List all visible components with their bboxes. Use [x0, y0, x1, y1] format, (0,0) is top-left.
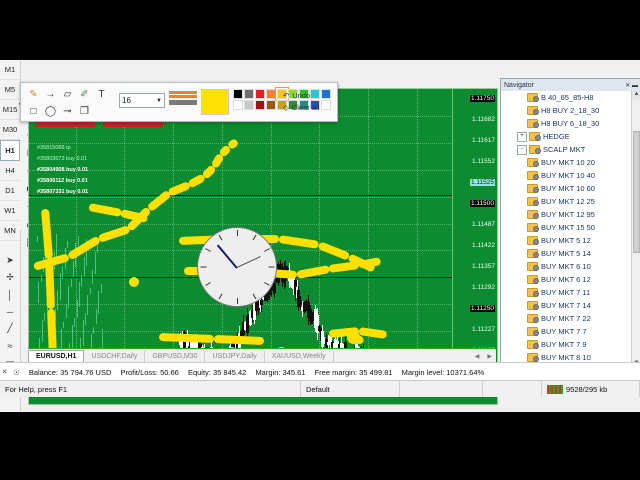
price-tick-label: 1.11750 — [470, 95, 495, 102]
horizontal-line-icon[interactable]: ─ — [0, 303, 20, 320]
navigator-item-label: BUY MKT 10 20 — [541, 158, 595, 167]
navigator-item[interactable]: B 40_65_85-H8 — [501, 91, 632, 104]
history-candle — [90, 288, 91, 294]
timeframe-button-m1[interactable]: M1 — [0, 60, 20, 80]
vertical-line-icon[interactable]: │ — [0, 286, 20, 303]
arrow-icon[interactable]: → — [42, 86, 59, 102]
expert-advisor-icon — [527, 327, 538, 336]
account-icon: ☉ — [13, 368, 20, 377]
grid-line-vertical — [124, 89, 125, 388]
expert-advisor-icon — [527, 249, 538, 258]
clock-tick — [205, 282, 211, 286]
line-width-swatches[interactable] — [169, 89, 197, 106]
navigator-close-icon[interactable]: ✕ ▬ — [625, 82, 638, 89]
expert-advisor-icon — [527, 93, 538, 102]
navigator-title: Navigator — [504, 82, 534, 89]
crosshair-icon[interactable]: ✢ — [0, 269, 20, 286]
grid-line-horizontal — [29, 224, 453, 225]
profit-loss-value: Profit/Loss: 50.66 — [120, 368, 178, 377]
current-color-swatch[interactable] — [201, 89, 229, 115]
navigator-item-label: BUY MKT 6 12 — [541, 275, 591, 284]
eraser-icon[interactable]: ▱ — [59, 86, 76, 102]
history-candle — [67, 241, 68, 248]
annotation-stroke — [88, 203, 121, 217]
expert-advisor-icon — [527, 119, 538, 128]
history-candle — [72, 325, 73, 348]
navigator-item[interactable]: BUY MKT 10 40 — [501, 169, 632, 182]
history-candle — [66, 304, 67, 318]
history-candle — [93, 327, 94, 334]
history-candle — [74, 318, 75, 327]
network-traffic: 9528/295 kb — [542, 381, 640, 397]
color-swatch-000000[interactable] — [233, 89, 243, 99]
history-candle — [85, 313, 86, 325]
expert-advisor-icon — [529, 145, 540, 154]
history-candle — [41, 275, 42, 282]
status-cell-b — [483, 381, 542, 397]
brush-icon[interactable]: ✐ — [76, 86, 93, 102]
text-icon[interactable]: T — [93, 86, 110, 102]
tabs-scroll-right[interactable]: ▶ — [483, 353, 496, 360]
line-width-swatch-2[interactable] — [169, 100, 197, 105]
terminal-close-icon[interactable]: ✕ — [0, 368, 9, 376]
price-tick-label: 1.11250 — [470, 305, 495, 312]
chart-plot[interactable]: 1.11 52 1.11 52 #35815088 tp#35803673 bu… — [29, 89, 453, 388]
candle-body — [260, 300, 263, 306]
price-tick-label: 1.11487 — [472, 221, 495, 228]
stamp-icon[interactable]: ❐ — [76, 103, 93, 119]
color-swatch-1f6fd8[interactable] — [321, 89, 331, 99]
balance-value: Balance: 35 794.76 USD — [29, 368, 112, 377]
history-candle — [98, 291, 99, 314]
history-candle — [37, 236, 38, 242]
trendline-icon[interactable]: ╱ — [0, 320, 20, 337]
expert-advisor-icon — [529, 132, 540, 141]
cursor-icon[interactable]: ➤ — [0, 252, 20, 269]
clock-tick — [237, 298, 238, 304]
navigator-item[interactable]: BUY MKT 7 7 — [501, 325, 632, 338]
clock-tick — [237, 230, 238, 236]
navigator-item[interactable]: BUY MKT 5 14 — [501, 247, 632, 260]
navigator-item-label: BUY MKT 7 9 — [541, 340, 587, 349]
grid-line-vertical — [173, 89, 174, 388]
expert-advisor-icon — [527, 184, 538, 193]
navigator-item-label: BUY MKT 10 40 — [541, 171, 595, 180]
expert-advisor-icon — [527, 236, 538, 245]
timeframe-button-m30[interactable]: M30 — [0, 120, 20, 140]
navigator-item[interactable]: BUY MKT 6 10 — [501, 260, 632, 273]
screenshot-stage: M1M5M15M30H1H4D1W1MN ➤✢│─╱≈▭ ▁▃▅⊕⊖⊞⇥⇤❖◴❑… — [0, 0, 640, 480]
order-label: #35815088 tp — [37, 145, 71, 151]
scrollbar-thumb[interactable] — [633, 131, 640, 253]
navigator-item-label: BUY MKT 12 25 — [541, 197, 595, 206]
clock-tick — [264, 282, 270, 286]
navigator-item[interactable]: H8 BUY 2_18_30 — [501, 104, 632, 117]
navigator-item-label: BUY MKT 15 50 — [541, 223, 595, 232]
history-candle — [101, 284, 102, 293]
expert-advisor-icon — [527, 171, 538, 180]
clock-tick — [201, 267, 207, 268]
price-tick-label: 1.11617 — [472, 137, 495, 144]
color-swatch-6e6e6e[interactable] — [244, 89, 254, 99]
price-tick-label: 1.11682 — [472, 116, 495, 123]
expert-advisor-icon — [527, 106, 538, 115]
history-candle — [61, 329, 62, 349]
history-candle — [44, 313, 45, 321]
history-candle — [79, 282, 80, 307]
color-swatch-9b1414[interactable] — [255, 100, 265, 110]
pencil-icon[interactable]: ✎ — [25, 86, 42, 102]
annotation-blob — [347, 331, 360, 344]
navigator-item-label: SCALP MKT — [543, 145, 585, 154]
history-candle — [83, 320, 84, 346]
clock-tick — [264, 248, 270, 252]
annotation-stroke — [147, 190, 172, 212]
margin-level-value: Margin level: 10371.64% — [402, 368, 485, 377]
navigator-item[interactable]: BUY MKT 12 95 — [501, 208, 632, 221]
eraser-icon: ◇ — [283, 103, 289, 112]
expert-advisor-icon — [527, 210, 538, 219]
clear-all-label: Clear all — [292, 103, 320, 112]
order-label: #35803673 buy 0.01 — [37, 156, 87, 162]
status-bar: For Help, press F1 Default 9528/295 kb — [0, 380, 640, 397]
navigator-item[interactable]: -SCALP MKT — [501, 143, 632, 156]
tree-expander-minus[interactable]: - — [517, 145, 527, 155]
history-candle — [62, 266, 63, 279]
grid-line-vertical — [417, 89, 418, 388]
history-candle — [87, 295, 88, 315]
network-bars-icon — [547, 385, 563, 394]
tabs-scroll-left[interactable]: ◀ — [471, 353, 484, 360]
history-candle — [57, 291, 58, 310]
history-candle — [38, 282, 39, 303]
price-axis[interactable]: 1.117501.116821.116171.115521.115251.115… — [452, 89, 497, 388]
line-width-swatch-1[interactable] — [169, 95, 197, 98]
expert-advisor-icon — [527, 262, 538, 271]
network-value: 9528/295 kb — [566, 385, 607, 394]
grid-line-horizontal — [29, 197, 453, 198]
color-swatch-ffffff[interactable] — [233, 100, 243, 110]
terminal-summary-bar: ✕ ☉ Balance: 35 794.76 USD Profit/Loss: … — [0, 362, 640, 381]
expert-advisor-icon — [527, 288, 538, 297]
equity-value: Equity: 35 845.42 — [188, 368, 246, 377]
chevron-down-icon[interactable]: ▼ — [156, 98, 162, 104]
chart-tab-xauusd-weekly[interactable]: XAUUSD,Weekly — [265, 351, 334, 362]
history-candle — [77, 300, 78, 317]
expert-advisor-icon — [527, 223, 538, 232]
metatrader-window: M1M5M15M30H1H4D1W1MN ➤✢│─╱≈▭ ▁▃▅⊕⊖⊞⇥⇤❖◴❑… — [0, 60, 640, 412]
history-candle — [42, 320, 43, 342]
timeframe-button-w1[interactable]: W1 — [0, 201, 20, 221]
history-candle — [60, 273, 61, 300]
clock-tick — [205, 248, 211, 252]
clock-tick — [219, 294, 223, 300]
clock-tick — [253, 294, 257, 300]
price-tick-label: 1.11552 — [472, 158, 495, 165]
navigator-item-label: B 40_65_85-H8 — [541, 93, 594, 102]
history-candle — [96, 309, 97, 324]
color-swatch-ffffff[interactable] — [321, 100, 331, 110]
expert-advisor-icon — [527, 275, 538, 284]
chart-tab-eurusd-h1[interactable]: EURUSD,H1 — [28, 350, 84, 363]
margin-value: Margin: 345.61 — [255, 368, 305, 377]
order-label: #35807331 buy 0.01 — [37, 189, 88, 195]
grid-line-vertical — [319, 89, 320, 388]
expert-advisor-icon — [527, 158, 538, 167]
history-candle — [73, 261, 74, 277]
history-candle — [97, 245, 98, 253]
grid-line-horizontal — [29, 143, 453, 144]
expert-advisor-icon — [527, 197, 538, 206]
navigator-panel: Navigator ✕ ▬ B 40_65_85-H8H8 BUY 2_18_3… — [500, 78, 640, 370]
chart-tab-gbpusd-m30[interactable]: GBPUSD,M30 — [145, 351, 205, 362]
history-candle — [71, 279, 72, 287]
free-margin-value: Free margin: 35 499.81 — [315, 368, 393, 377]
navigator-item[interactable]: BUY MKT 7 22 — [501, 312, 632, 325]
annotation-stroke — [328, 261, 359, 273]
clock-cursor-icon — [197, 227, 277, 307]
navigator-item-label: BUY MKT 12 95 — [541, 210, 595, 219]
color-swatch-e02020[interactable] — [255, 89, 265, 99]
clear-all-button[interactable]: ◇ Clear all — [283, 103, 319, 112]
navigator-item[interactable]: BUY MKT 6 12 — [501, 273, 632, 286]
history-candle — [78, 236, 79, 246]
drawbar-tools-row2: □◯⊸❐ — [25, 103, 93, 119]
clock-minute-hand — [237, 256, 261, 268]
drawbar-tools-row1: ✎→▱✐T — [25, 86, 110, 102]
navigator-item[interactable]: BUY MKT 10 20 — [501, 156, 632, 169]
clock-tick — [253, 235, 257, 241]
line-width-swatch-0[interactable] — [169, 91, 197, 94]
price-tick-label: 1.11500 — [470, 200, 495, 207]
price-tick-label: 1.11422 — [472, 242, 495, 249]
navigator-item-label: BUY MKT 6 10 — [541, 262, 591, 271]
scroll-up-arrow[interactable]: ▲ — [632, 91, 640, 100]
order-label: #35804908 buy 0.01 — [37, 167, 88, 173]
account-summary: ☉ Balance: 35 794.76 USD Profit/Loss: 50… — [9, 368, 491, 377]
navigator-item-label: BUY MKT 7 7 — [541, 327, 587, 336]
font-size-select[interactable]: 16 ▼ — [119, 93, 165, 108]
undo-label: Undo — [292, 91, 310, 100]
history-candle — [81, 275, 82, 286]
annotation-stroke — [318, 241, 351, 260]
price-tick-label: 1.11227 — [472, 326, 495, 333]
price-tick-label: 1.11357 — [472, 263, 495, 270]
undo-button[interactable]: ↶ Undo — [283, 91, 319, 100]
grid-line-vertical — [368, 89, 369, 388]
navigator-item-label: BUY MKT 5 14 — [541, 249, 591, 258]
price-tick-label: 1.11292 — [472, 284, 495, 291]
navigator-item-label: BUY MKT 7 22 — [541, 314, 591, 323]
help-hint: For Help, press F1 — [0, 381, 301, 397]
annotation-stroke — [41, 209, 53, 260]
drawing-toolbar-popup[interactable]: ✎→▱✐T □◯⊸❐ 16 ▼ ↶ Undo ◇ Clear all — [20, 82, 338, 122]
clock-tick — [269, 267, 275, 268]
navigator-item[interactable]: BUY MKT 7 9 — [501, 338, 632, 351]
navigator-item[interactable]: H8 BUY 6_18_30 — [501, 117, 632, 130]
navigator-item[interactable]: BUY MKT 15 50 — [501, 221, 632, 234]
navigator-item[interactable]: +HEDGE — [501, 130, 632, 143]
timeframe-button-mn[interactable]: MN — [0, 221, 20, 241]
polyline-icon[interactable]: ⊸ — [59, 103, 76, 119]
profile-name: Default — [301, 381, 400, 397]
order-label: #35806112 buy 0.01 — [37, 178, 88, 184]
status-cell-a — [400, 381, 483, 397]
grid-line-horizontal — [29, 170, 453, 171]
history-candle — [95, 252, 96, 274]
history-candle — [68, 286, 69, 308]
chart-tabs[interactable]: EURUSD,H1USDCHF,DailyGBPUSD,M30USDJPY,Da… — [28, 348, 496, 363]
navigator-tree[interactable]: B 40_65_85-H8H8 BUY 2_18_30H8 BUY 6_18_3… — [501, 91, 632, 369]
color-swatch-9a5a16[interactable] — [266, 100, 276, 110]
navigator-item[interactable]: BUY MKT 7 11 — [501, 286, 632, 299]
chart-tab-usdchf-daily[interactable]: USDCHF,Daily — [84, 351, 145, 362]
navigator-item[interactable]: BUY MKT 7 14 — [501, 299, 632, 312]
navigator-item-label: BUY MKT 10 60 — [541, 184, 595, 193]
price-tick-label: 1.11525 — [470, 179, 495, 186]
grid-line-vertical — [76, 89, 77, 388]
navigator-item-label: BUY MKT 5 12 — [541, 236, 591, 245]
navigator-item-label: BUY MKT 7 14 — [541, 301, 591, 310]
expert-advisor-icon — [527, 353, 538, 362]
candle-body — [273, 283, 276, 293]
expert-advisor-icon — [527, 314, 538, 323]
navigator-item-label: BUY MKT 8 10 — [541, 353, 591, 362]
chart-tab-usdjpy-daily[interactable]: USDJPY,Daily — [205, 351, 264, 362]
ellipse-icon[interactable]: ◯ — [42, 103, 59, 119]
history-candle — [63, 322, 64, 328]
price-level-line — [29, 195, 453, 196]
history-candle — [84, 257, 85, 276]
rectangle-icon[interactable]: □ — [25, 103, 42, 119]
navigator-item-label: H8 BUY 6_18_30 — [541, 119, 599, 128]
history-candle — [92, 270, 93, 284]
expert-advisor-icon — [527, 301, 538, 310]
clock-tick — [219, 235, 223, 241]
navigator-item-label: HEDGE — [543, 132, 570, 141]
color-swatch-c9c9c9[interactable] — [244, 100, 254, 110]
annotation-stroke — [278, 235, 319, 249]
font-size-value: 16 — [122, 96, 131, 105]
navigator-item[interactable]: BUY MKT 12 25 — [501, 195, 632, 208]
timeframe-button-m15[interactable]: M15 — [0, 100, 20, 120]
annotation-stroke — [159, 333, 214, 343]
annotation-blob — [129, 277, 139, 287]
navigator-scrollbar[interactable]: ▲ ▼ — [631, 91, 640, 369]
expert-advisor-icon — [527, 340, 538, 349]
timeframe-button-h4[interactable]: H4 — [0, 161, 20, 181]
navigator-item-label: H8 BUY 2_18_30 — [541, 106, 599, 115]
navigator-item[interactable]: BUY MKT 10 60 — [501, 182, 632, 195]
timeframe-button-h1[interactable]: H1 — [0, 140, 20, 161]
tree-expander-plus[interactable]: + — [517, 132, 527, 142]
fibonacci-icon[interactable]: ≈ — [0, 337, 20, 354]
clock-hour-hand — [217, 244, 238, 268]
navigator-item[interactable]: BUY MKT 5 12 — [501, 234, 632, 247]
color-swatch-ef8030[interactable] — [266, 89, 276, 99]
timeframe-button-m5[interactable]: M5 — [0, 80, 20, 100]
navigator-item-label: BUY MKT 7 11 — [541, 288, 590, 297]
undo-icon: ↶ — [283, 91, 289, 100]
timeframe-button-d1[interactable]: D1 — [0, 181, 20, 201]
